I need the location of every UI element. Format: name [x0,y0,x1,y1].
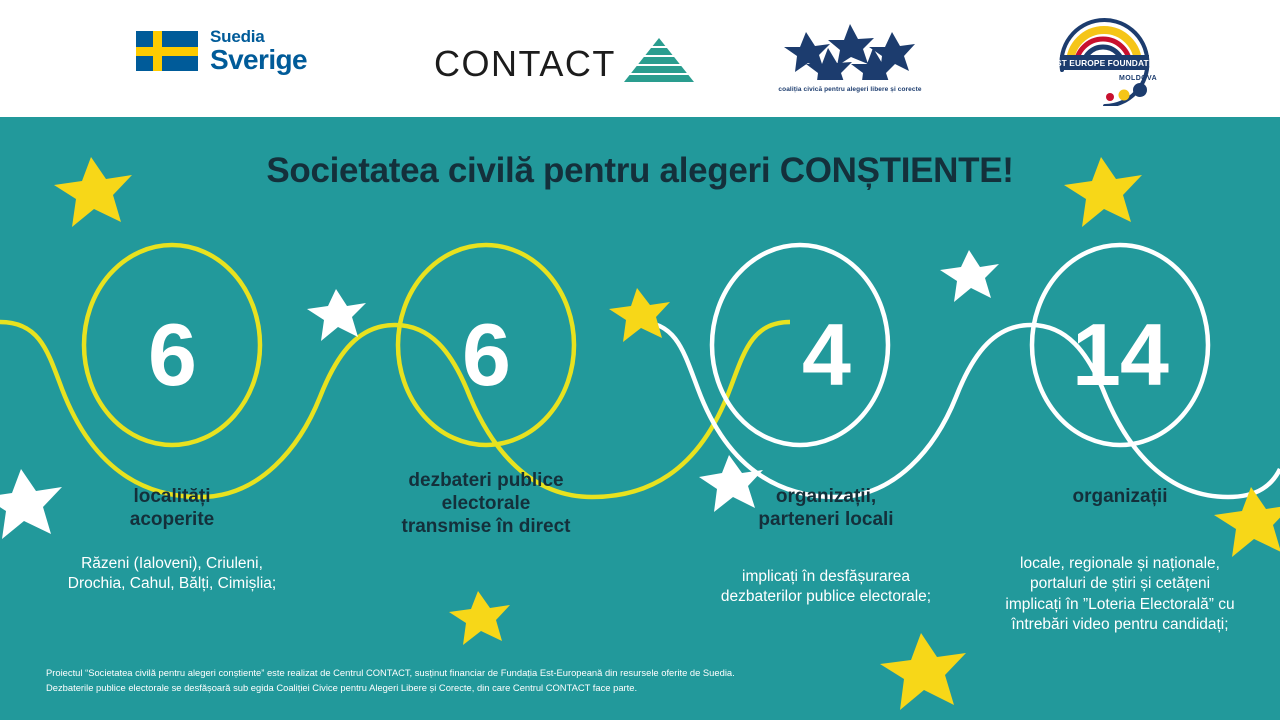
stat-description: locale, regionale și naționale, portalur… [960,554,1280,636]
flag-cross-horizontal [136,47,198,56]
stat-heading: localități acoperite [12,485,332,531]
coalition-caption: coaliția civică pentru alegeri libere și… [770,86,930,93]
stat-number: 6 [12,247,332,462]
stat-heading-line: organizații [960,485,1280,508]
stat-number: 14 [960,247,1280,462]
star-yellow-lower-left [449,591,510,645]
contact-wordmark: CONTACT [434,46,616,82]
stat-description-line: portaluri de știri și cetățeni [960,574,1280,594]
stat-heading-line: electorale [326,492,646,515]
stat-description: Răzeni (Ialoveni), Criuleni, Drochia, Ca… [12,554,332,595]
stat-description-line: locale, regionale și naționale, [960,554,1280,574]
svg-text:EAST EUROPE FOUNDATION: EAST EUROPE FOUNDATION [1050,58,1160,68]
sweden-logo: Suedia Sverige [136,28,307,74]
concentric-arcs-icon: EAST EUROPE FOUNDATION MOLDOVA [1050,14,1160,106]
stat-description-line: implicați în ”Loteria Electorală” cu [960,595,1280,615]
stat-heading-line: parteneri locali [666,508,986,531]
stat-heading-line: localități [12,485,332,508]
stat-description: implicați în desfășurarea dezbaterilor p… [666,567,986,608]
contact-logo: CONTACT [434,38,694,82]
logo-bar: Suedia Sverige CONTACT [0,0,1280,117]
stat-heading-line: acoperite [12,508,332,531]
sweden-label-suedia: Suedia [210,28,307,45]
footer-note-line-2: Dezbaterile publice electorale se desfăș… [46,680,1046,695]
stat-heading: organizații, parteneri locali [666,485,986,531]
stat-heading-line: organizații, [666,485,986,508]
stat-heading-line: dezbateri publice [326,469,646,492]
stat-description-line: dezbaterilor publice electorale; [666,587,986,607]
stat-description-line: Drochia, Cahul, Bălți, Cimișlia; [12,574,332,594]
infographic-page: Suedia Sverige CONTACT [0,0,1280,720]
sweden-flag-icon [136,31,198,71]
stat-heading: dezbateri publice electorale transmise î… [326,469,646,539]
striped-pyramid-icon [624,38,694,82]
sweden-wordmark: Suedia Sverige [210,28,307,74]
stat-heading-line: transmise în direct [326,515,646,538]
sweden-label-sverige: Sverige [210,46,307,74]
stat-description-line: implicați în desfășurarea [666,567,986,587]
main-panel: Societatea civilă pentru alegeri CONȘTIE… [0,117,1280,720]
page-title: Societatea civilă pentru alegeri CONȘTIE… [0,151,1280,191]
stat-number: 4 [666,247,986,462]
footer-note: Proiectul “Societatea civilă pentru aleg… [46,665,1046,695]
svg-text:MOLDOVA: MOLDOVA [1119,75,1157,82]
east-europe-foundation-logo: EAST EUROPE FOUNDATION MOLDOVA [1050,14,1160,106]
stat-heading: organizații [960,485,1280,508]
five-stars-oval-icon [770,22,930,85]
coalition-logo: coaliția civică pentru alegeri libere și… [770,22,930,93]
footer-note-line-1: Proiectul “Societatea civilă pentru aleg… [46,665,1046,680]
stat-number: 6 [326,247,646,462]
stat-description-line: întrebări video pentru candidați; [960,615,1280,635]
stat-description-line: Răzeni (Ialoveni), Criuleni, [12,554,332,574]
